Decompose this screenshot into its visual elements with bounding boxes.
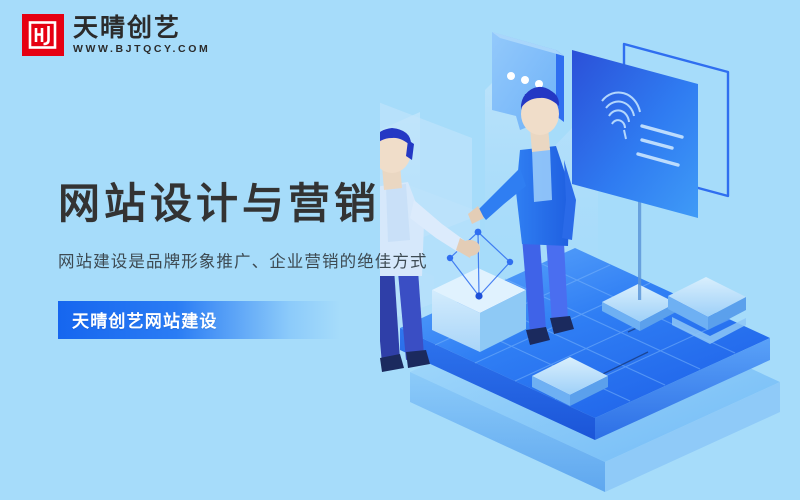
logo-text-block: 天晴创艺 WWW.BJTQCY.COM <box>73 14 210 57</box>
hero-subtitle: 网站建设是品牌形象推广、企业营销的绝佳方式 <box>58 250 428 273</box>
cta-banner-button[interactable]: 天晴创艺网站建设 <box>58 301 340 339</box>
hero-copy-block: 网站设计与营销 网站建设是品牌形象推广、企业营销的绝佳方式 天晴创艺网站建设 <box>58 178 428 339</box>
hero-banner: 天晴创艺 WWW.BJTQCY.COM 网站设计与营销 网站建设是品牌形象推广、… <box>0 0 800 500</box>
page-title: 网站设计与营销 <box>58 178 428 231</box>
logo-mark-icon <box>22 14 64 56</box>
isometric-handshake-illustration <box>380 0 800 500</box>
logo-company-name: 天晴创艺 <box>73 14 210 42</box>
handshake <box>460 240 480 256</box>
logo-website-url: WWW.BJTQCY.COM <box>73 43 210 57</box>
cta-label: 天晴创艺网站建设 <box>72 307 218 332</box>
site-logo[interactable]: 天晴创艺 WWW.BJTQCY.COM <box>22 14 210 57</box>
